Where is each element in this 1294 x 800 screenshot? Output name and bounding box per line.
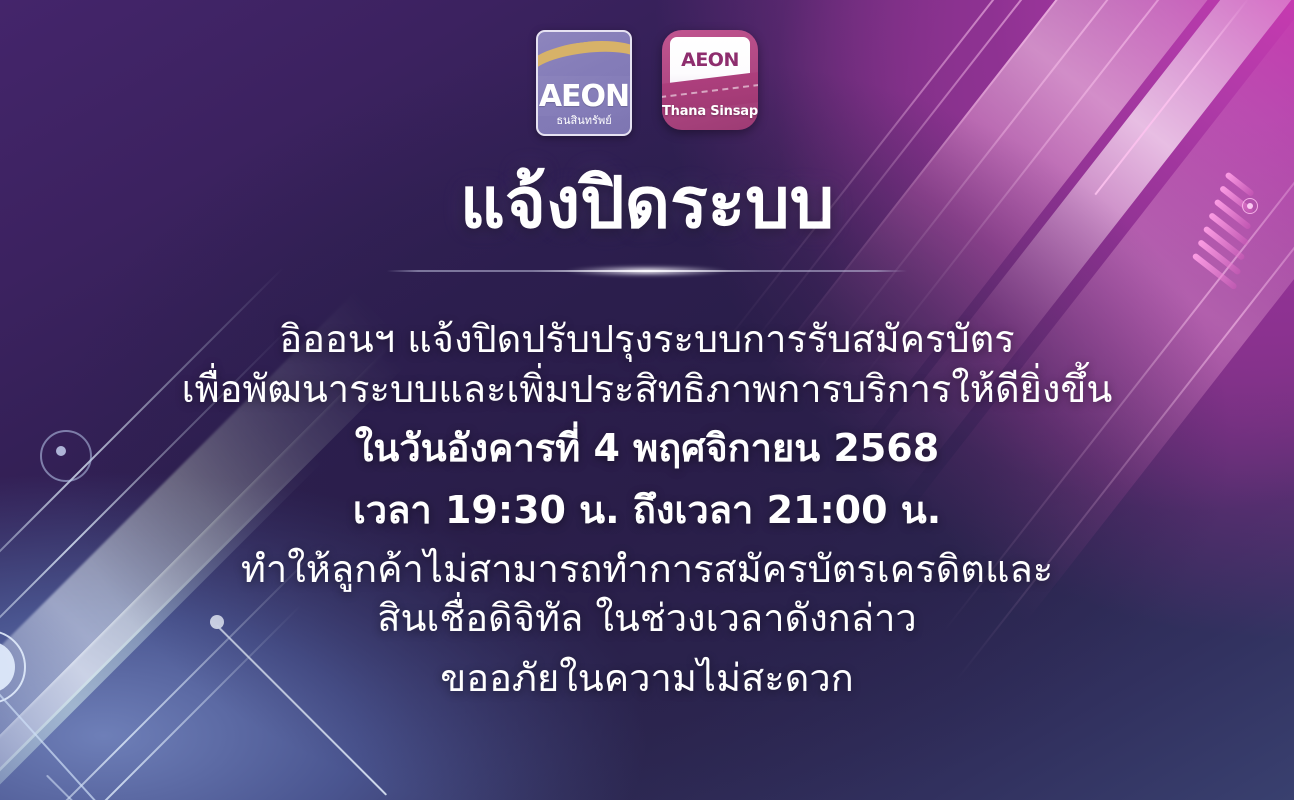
notice-line: เพื่อพัฒนาระบบและเพิ่มประสิทธิภาพการบริก… bbox=[0, 365, 1294, 414]
thana-sinsap-app-icon: AEON Thana Sinsap bbox=[662, 30, 758, 130]
notice-line-time: เวลา 19:30 น. ถึงเวลา 21:00 น. bbox=[0, 486, 1294, 535]
notice-line: อิออนฯ แจ้งปิดปรับปรุงระบบการรับสมัครบัต… bbox=[0, 315, 1294, 364]
notice-line-date: ในวันอังคารที่ 4 พฤศจิกายน 2568 bbox=[0, 424, 1294, 473]
notice-body: อิออนฯ แจ้งปิดปรับปรุงระบบการรับสมัครบัต… bbox=[0, 315, 1294, 703]
app-label: Thana Sinsap bbox=[662, 105, 758, 118]
logo-row: AEON ธนสินทรัพย์ AEON Thana Sinsap bbox=[0, 30, 1294, 136]
aeon-corporate-logo: AEON ธนสินทรัพย์ bbox=[536, 30, 632, 136]
page-title: แจ้งปิดระบบ bbox=[0, 168, 1294, 239]
glowing-divider bbox=[387, 257, 907, 285]
notice-line: ทำให้ลูกค้าไม่สามารถทำการสมัครบัตรเครดิต… bbox=[0, 545, 1294, 594]
app-card-wordmark: AEON bbox=[670, 51, 750, 70]
aeon-thai-subtitle: ธนสินทรัพย์ bbox=[538, 115, 630, 126]
notice-line: สินเชื่อดิจิทัล ในช่วงเวลาดังกล่าว bbox=[0, 594, 1294, 643]
aeon-wordmark: AEON bbox=[538, 82, 630, 112]
notice-line-apology: ขออภัยในความไม่สะดวก bbox=[0, 654, 1294, 703]
notice-banner: AEON ธนสินทรัพย์ AEON Thana Sinsap แจ้งป… bbox=[0, 0, 1294, 800]
